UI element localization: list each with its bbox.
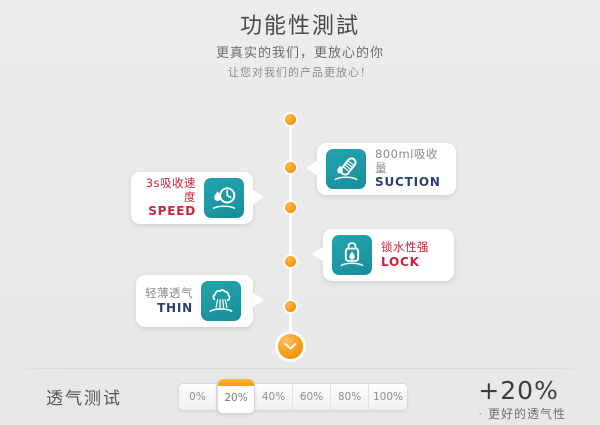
feature-card-speed-en: SPEED: [148, 204, 196, 218]
poster-canvas: 功能性測試 更真实的我们，更放心的你 让您对我们的产品更放心！ 3s吸收速度 S…: [0, 0, 600, 425]
segment-0-label: 0%: [189, 391, 206, 403]
feature-card-lock[interactable]: 锁水性强 LOCK: [323, 229, 454, 281]
feature-card-suction-text: 800ml吸收量 SUCTION: [375, 148, 447, 189]
feature-card-suction-en: SUCTION: [375, 175, 441, 189]
feature-card-thin-en: THIN: [157, 301, 193, 315]
timeline-dot[interactable]: [285, 114, 296, 125]
feature-card-suction-cn: 800ml吸收量: [375, 148, 447, 175]
breathable-cloud-icon: [201, 281, 241, 321]
timeline-end-button[interactable]: [278, 334, 303, 359]
result-value: +20%: [478, 377, 566, 405]
card-pointer: [312, 246, 324, 262]
result-caption: 更好的透气性: [488, 407, 566, 421]
header: 功能性測試 更真实的我们，更放心的你 让您对我们的产品更放心！: [0, 12, 600, 82]
feature-card-speed-text: 3s吸收速度 SPEED: [140, 177, 196, 218]
segment-0[interactable]: 0%: [179, 384, 217, 410]
result-caption-row: · 更好的透气性: [478, 405, 566, 423]
segment-100-label: 100%: [373, 391, 403, 403]
timeline-dot[interactable]: [285, 202, 296, 213]
percentage-segmented-control[interactable]: 0% 20% 40% 60% 80% 100%: [178, 383, 408, 411]
segment-40-label: 40%: [262, 391, 285, 403]
timeline-dot[interactable]: [285, 162, 296, 173]
card-pointer: [252, 292, 264, 308]
card-pointer: [252, 189, 264, 205]
segment-100[interactable]: 100%: [369, 384, 407, 410]
timeline-dot[interactable]: [285, 256, 296, 267]
segment-80[interactable]: 80%: [331, 384, 369, 410]
feature-card-thin-text: 轻薄透气 THIN: [145, 287, 193, 315]
segment-20-label: 20%: [224, 392, 247, 404]
feature-card-lock-text: 锁水性强 LOCK: [381, 241, 429, 269]
feature-card-thin[interactable]: 轻薄透气 THIN: [136, 275, 253, 327]
card-pointer: [306, 160, 318, 176]
page-subtitle-secondary: 让您对我们的产品更放心！: [0, 64, 600, 82]
segment-40[interactable]: 40%: [255, 384, 293, 410]
segment-60-label: 60%: [300, 391, 323, 403]
segment-80-label: 80%: [338, 391, 361, 403]
breathability-test-bar: 透气测试 0% 20% 40% 60% 80% 100% +20%: [0, 369, 600, 425]
feature-card-thin-cn: 轻薄透气: [145, 287, 193, 301]
padlock-drop-icon: [332, 235, 372, 275]
segment-60[interactable]: 60%: [293, 384, 331, 410]
page-subtitle-primary: 更真实的我们，更放心的你: [0, 44, 600, 64]
feature-card-speed-cn: 3s吸收速度: [140, 177, 196, 204]
page-title: 功能性測試: [0, 12, 600, 42]
drop-clock-icon: [204, 178, 244, 218]
feature-card-lock-en: LOCK: [381, 255, 420, 269]
test-tube-icon: [326, 149, 366, 189]
timeline-track: [289, 114, 292, 346]
feature-card-suction[interactable]: 800ml吸收量 SUCTION: [317, 143, 456, 195]
breathability-test-label: 透气测试: [46, 384, 122, 409]
chevron-down-icon: [284, 342, 297, 351]
segment-20-selected[interactable]: 20%: [217, 379, 255, 413]
timeline-dot[interactable]: [285, 301, 296, 312]
feature-card-lock-cn: 锁水性强: [381, 241, 429, 255]
feature-card-speed[interactable]: 3s吸收速度 SPEED: [131, 172, 253, 224]
test-result: +20% · 更好的透气性: [478, 377, 566, 423]
bullet-dot-icon: ·: [478, 407, 483, 421]
